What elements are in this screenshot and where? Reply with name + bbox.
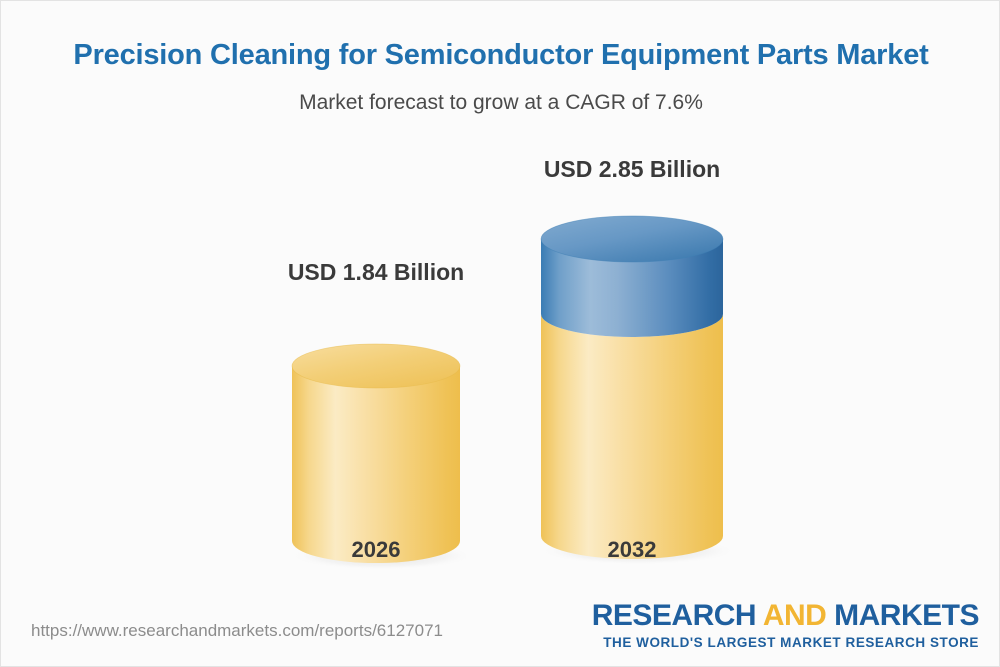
bar-value-label-2032: USD 2.85 Billion	[534, 156, 730, 183]
report-url[interactable]: https://www.researchandmarkets.com/repor…	[31, 621, 443, 641]
plot-area: USD 1.84 Billion	[1, 1, 1000, 581]
chart-canvas: Precision Cleaning for Semiconductor Equ…	[0, 0, 1000, 667]
bar-cylinder-2026[interactable]	[286, 304, 466, 574]
logo-word-research: RESEARCH	[592, 599, 756, 632]
logo-word-markets: MARKETS	[834, 599, 979, 632]
bar-category-label-2032: 2032	[534, 537, 730, 563]
bar-cylinder-2032[interactable]	[534, 194, 730, 569]
logo-wordmark: RESEARCH AND MARKETS	[592, 601, 979, 631]
logo-tagline: THE WORLD'S LARGEST MARKET RESEARCH STOR…	[592, 636, 979, 650]
bar-value-label-2026: USD 1.84 Billion	[286, 259, 466, 286]
logo-word-and: AND	[763, 599, 827, 632]
brand-logo[interactable]: RESEARCH AND MARKETS THE WORLD'S LARGEST…	[592, 601, 979, 650]
bar-category-label-2026: 2026	[286, 537, 466, 563]
